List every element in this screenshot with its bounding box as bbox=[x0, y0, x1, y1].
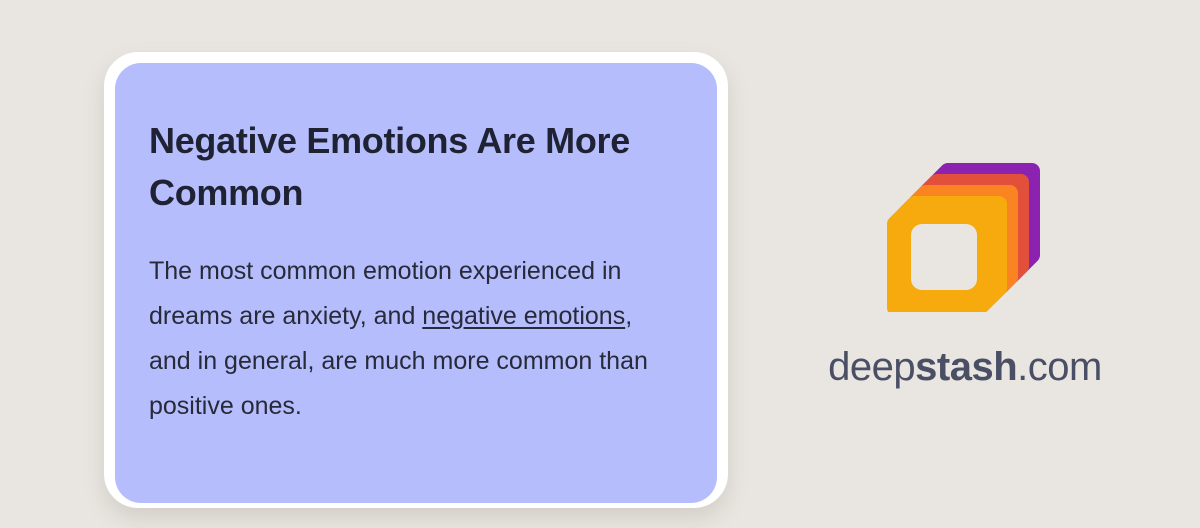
brand-wordmark: deepstash.com bbox=[828, 344, 1102, 390]
negative-emotions-link[interactable]: negative emotions bbox=[422, 302, 625, 330]
poster-canvas: Negative Emotions Are More Common The mo… bbox=[0, 0, 1200, 528]
logo-inner-square-icon bbox=[911, 224, 977, 290]
brand-block: deepstash.com bbox=[790, 160, 1140, 390]
card-body-text: The most common emotion experienced in d… bbox=[149, 219, 679, 429]
card-surface: Negative Emotions Are More Common The mo… bbox=[115, 63, 717, 503]
deepstash-cube-logo-icon bbox=[885, 160, 1045, 312]
brand-name-bold: stash bbox=[915, 345, 1017, 389]
brand-name-light: deep bbox=[828, 345, 915, 389]
quote-card: Negative Emotions Are More Common The mo… bbox=[104, 52, 728, 512]
brand-name-tld: .com bbox=[1017, 345, 1102, 389]
card-title: Negative Emotions Are More Common bbox=[149, 115, 649, 219]
